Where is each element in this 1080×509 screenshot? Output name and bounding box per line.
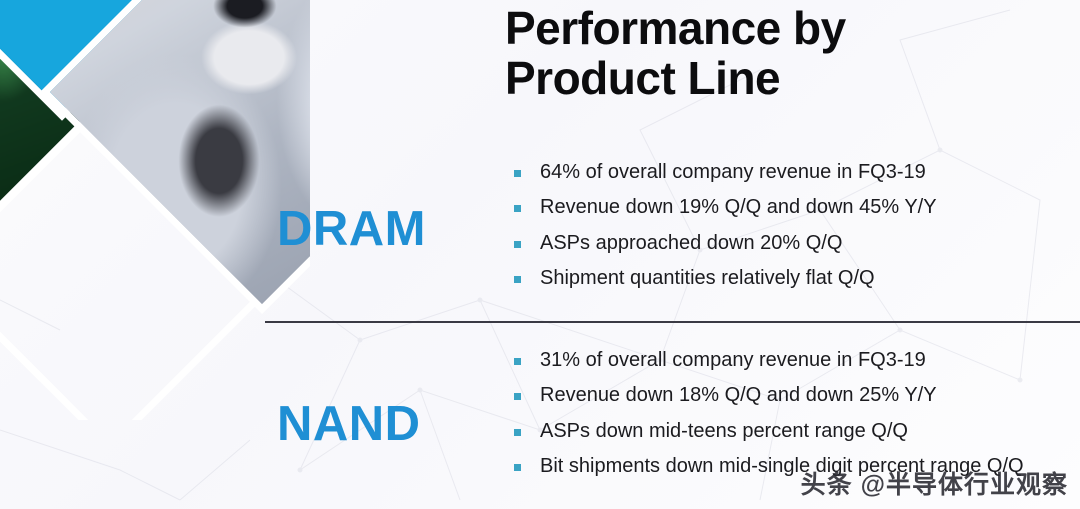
bullet-square-icon [514, 241, 521, 248]
section-divider [265, 321, 1080, 323]
bullet-text: Shipment quantities relatively flat Q/Q [540, 267, 875, 289]
bullet-list-dram: 64% of overall company revenue in FQ3-19… [514, 160, 1034, 302]
list-item: ASPs down mid-teens percent range Q/Q [514, 419, 1034, 443]
list-item: Revenue down 18% Q/Q and down 25% Y/Y [514, 383, 1034, 407]
photo-collage [0, 0, 310, 420]
list-item: Shipment quantities relatively flat Q/Q [514, 266, 1034, 290]
bullet-text: Revenue down 19% Q/Q and down 45% Y/Y [540, 196, 937, 218]
product-label-dram: DRAM [277, 201, 426, 257]
page-title: Performance by Product Line [505, 4, 975, 103]
watermark: 头条 @半导体行业观察 [801, 465, 1068, 501]
bullet-text: Revenue down 18% Q/Q and down 25% Y/Y [540, 384, 937, 406]
bullet-text: ASPs down mid-teens percent range Q/Q [540, 420, 908, 442]
bullet-square-icon [514, 205, 521, 212]
bullet-square-icon [514, 429, 521, 436]
bullet-square-icon [514, 170, 521, 177]
bullet-square-icon [514, 464, 521, 471]
list-item: 64% of overall company revenue in FQ3-19 [514, 160, 1034, 184]
bullet-text: 64% of overall company revenue in FQ3-19 [540, 161, 926, 183]
slide-root: Performance by Product Line DRAM 64% of … [0, 0, 1080, 509]
list-item: Revenue down 19% Q/Q and down 45% Y/Y [514, 195, 1034, 219]
bullet-square-icon [514, 276, 521, 283]
product-label-nand: NAND [277, 396, 421, 452]
list-item: 31% of overall company revenue in FQ3-19 [514, 348, 1034, 372]
list-item: ASPs approached down 20% Q/Q [514, 231, 1034, 255]
bullet-text: 31% of overall company revenue in FQ3-19 [540, 349, 926, 371]
bullet-text: ASPs approached down 20% Q/Q [540, 232, 842, 254]
bullet-square-icon [514, 358, 521, 365]
bullet-square-icon [514, 393, 521, 400]
